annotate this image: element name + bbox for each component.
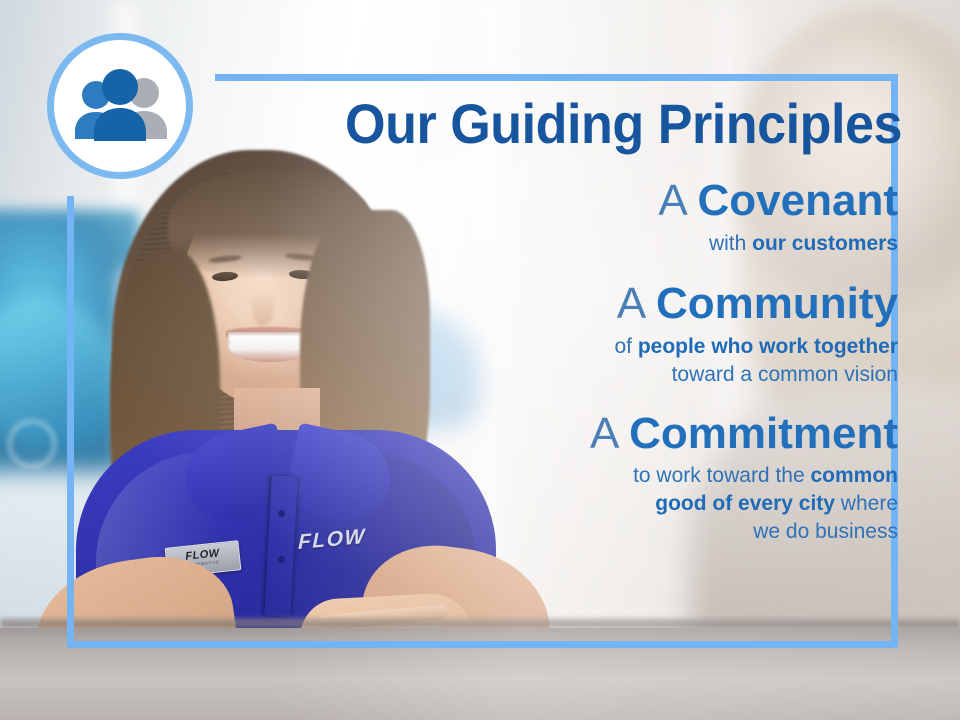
principle-article: A bbox=[658, 176, 697, 225]
principle-description: with our customers bbox=[0, 230, 898, 258]
principle-article: A bbox=[617, 279, 656, 328]
principle-heading: A Covenant bbox=[0, 178, 898, 224]
emphasis: our customers bbox=[752, 232, 898, 255]
desk-edge bbox=[0, 618, 960, 628]
principle-description-line: good of every city where bbox=[0, 490, 898, 518]
emphasis: people who work together bbox=[638, 335, 898, 358]
principle-article: A bbox=[590, 409, 629, 458]
principle-keyword: Community bbox=[656, 279, 898, 328]
emphasis: common bbox=[810, 464, 898, 487]
principle-heading: A Commitment bbox=[0, 411, 898, 457]
principle-description-line: we do business bbox=[0, 518, 898, 546]
principle-covenant: A Covenant with our customers bbox=[0, 178, 898, 257]
principle-description-line: of people who work together bbox=[0, 333, 898, 361]
page-title: Our Guiding Principles bbox=[63, 96, 902, 152]
principle-keyword: Covenant bbox=[698, 176, 898, 225]
principle-description-line: with our customers bbox=[709, 232, 898, 255]
principle-description-line: toward a common vision bbox=[0, 361, 898, 389]
principle-keyword: Commitment bbox=[629, 409, 898, 458]
emphasis: good of every city bbox=[655, 492, 835, 515]
principle-description-line: to work toward the common bbox=[0, 462, 898, 490]
principle-description: of people who work together toward a com… bbox=[0, 333, 898, 388]
desk-surface bbox=[0, 628, 960, 720]
principle-community: A Community of people who work together … bbox=[0, 281, 898, 388]
principle-description: to work toward the common good of every … bbox=[0, 462, 898, 545]
principle-heading: A Community bbox=[0, 281, 898, 327]
principles-list: A Covenant with our customers A Communit… bbox=[0, 178, 898, 560]
guiding-principles-poster: FLOW FLOW AUTOMOTIVE bbox=[0, 0, 960, 720]
principle-commitment: A Commitment to work toward the common g… bbox=[0, 411, 898, 546]
